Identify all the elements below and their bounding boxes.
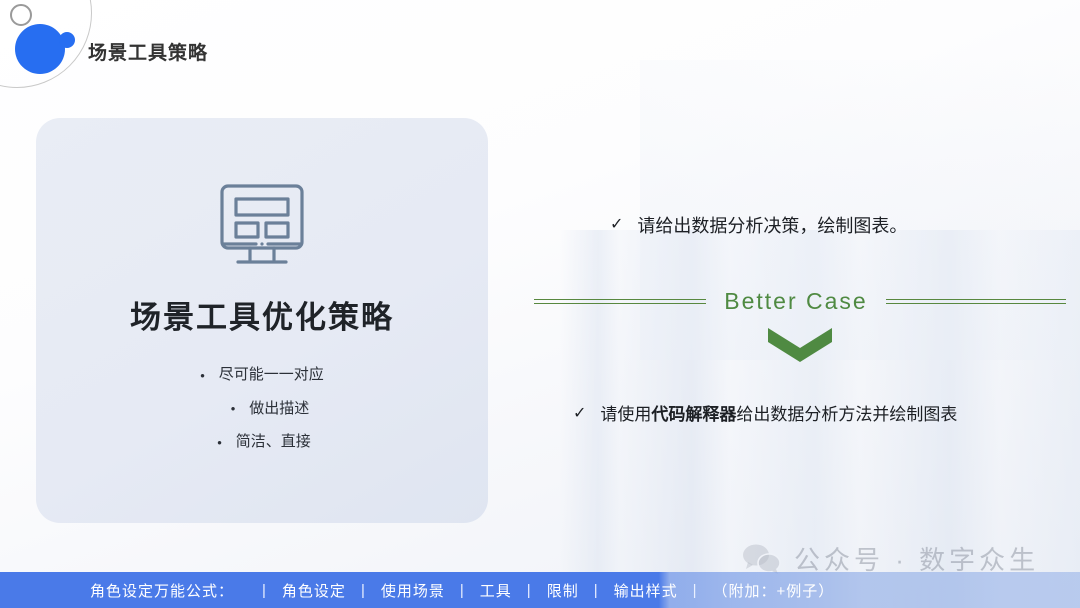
bottom-bar-item-limit[interactable]: 限制: [538, 580, 588, 601]
bottom-bar-separator: |: [256, 582, 273, 599]
list-item: •尽可能一一对应: [36, 358, 488, 392]
bottom-bar-separator: |: [521, 582, 538, 599]
desktop-monitor-icon: [36, 180, 488, 272]
divider-rule-left: [534, 299, 706, 304]
bottom-bar-separator: |: [588, 582, 605, 599]
list-item: •简洁、直接: [36, 425, 488, 459]
after-case-emphasis: 代码解释器: [651, 405, 736, 424]
bullet-marker: •: [200, 359, 205, 392]
bottom-formula-bar: 角色设定万能公式： | 角色设定 | 使用场景 | 工具 | 限制 | 输出样式…: [0, 572, 1080, 608]
better-case-label: Better Case: [724, 288, 867, 315]
bottom-bar-tail: （附加：+例子）: [704, 580, 844, 601]
page-title: 场景工具策略: [88, 38, 208, 65]
wechat-icon: [742, 543, 782, 575]
checkmark-icon: ✓: [573, 402, 586, 427]
decorative-large-dot: [15, 24, 65, 74]
slide-canvas: 场景工具策略 场景工具优化策略 •尽可能一一对应 •做出描述: [0, 0, 1080, 608]
after-case-suffix: 给出数据分析方法并绘制图表: [736, 405, 957, 424]
list-item-label: 尽可能一一对应: [219, 366, 324, 383]
card-bullet-list: •尽可能一一对应 •做出描述 •简洁、直接: [36, 358, 488, 459]
bottom-bar-lead: 角色设定万能公式：: [90, 580, 256, 601]
bottom-bar-separator: |: [454, 582, 471, 599]
checkmark-icon: ✓: [610, 213, 623, 238]
strategy-card: 场景工具优化策略 •尽可能一一对应 •做出描述 •简洁、直接: [36, 118, 488, 523]
better-case-divider: Better Case: [520, 288, 1080, 315]
after-case-text: 请使用代码解释器给出数据分析方法并绘制图表: [600, 402, 957, 428]
bottom-bar-item-tool[interactable]: 工具: [471, 580, 521, 601]
bottom-bar-separator: |: [355, 582, 372, 599]
divider-rule-right: [886, 299, 1066, 304]
list-item: •做出描述: [36, 392, 488, 426]
bottom-bar-item-output-style[interactable]: 输出样式: [605, 580, 687, 601]
bottom-bar-item-scene[interactable]: 使用场景: [372, 580, 454, 601]
after-case-prefix: 请使用: [600, 405, 651, 424]
bottom-bar-item-role[interactable]: 角色设定: [273, 580, 355, 601]
bullet-marker: •: [231, 392, 236, 425]
chevron-down-icon: [520, 328, 1080, 362]
list-item-label: 简洁、直接: [236, 433, 311, 450]
before-case-bullet: ✓ 请给出数据分析决策，绘制图表。: [610, 213, 907, 240]
bullet-marker: •: [217, 426, 222, 459]
list-item-label: 做出描述: [249, 400, 309, 417]
background-glow: [640, 60, 1080, 360]
after-case-bullet: ✓ 请使用代码解释器给出数据分析方法并绘制图表: [573, 402, 957, 428]
before-case-text: 请给出数据分析决策，绘制图表。: [637, 213, 907, 240]
decorative-small-dot: [59, 32, 75, 48]
bottom-bar-separator: |: [687, 582, 704, 599]
bottom-bar-items: 角色设定万能公式： | 角色设定 | 使用场景 | 工具 | 限制 | 输出样式…: [90, 580, 843, 601]
decorative-ring-circle: [10, 4, 32, 26]
card-title: 场景工具优化策略: [36, 292, 488, 337]
